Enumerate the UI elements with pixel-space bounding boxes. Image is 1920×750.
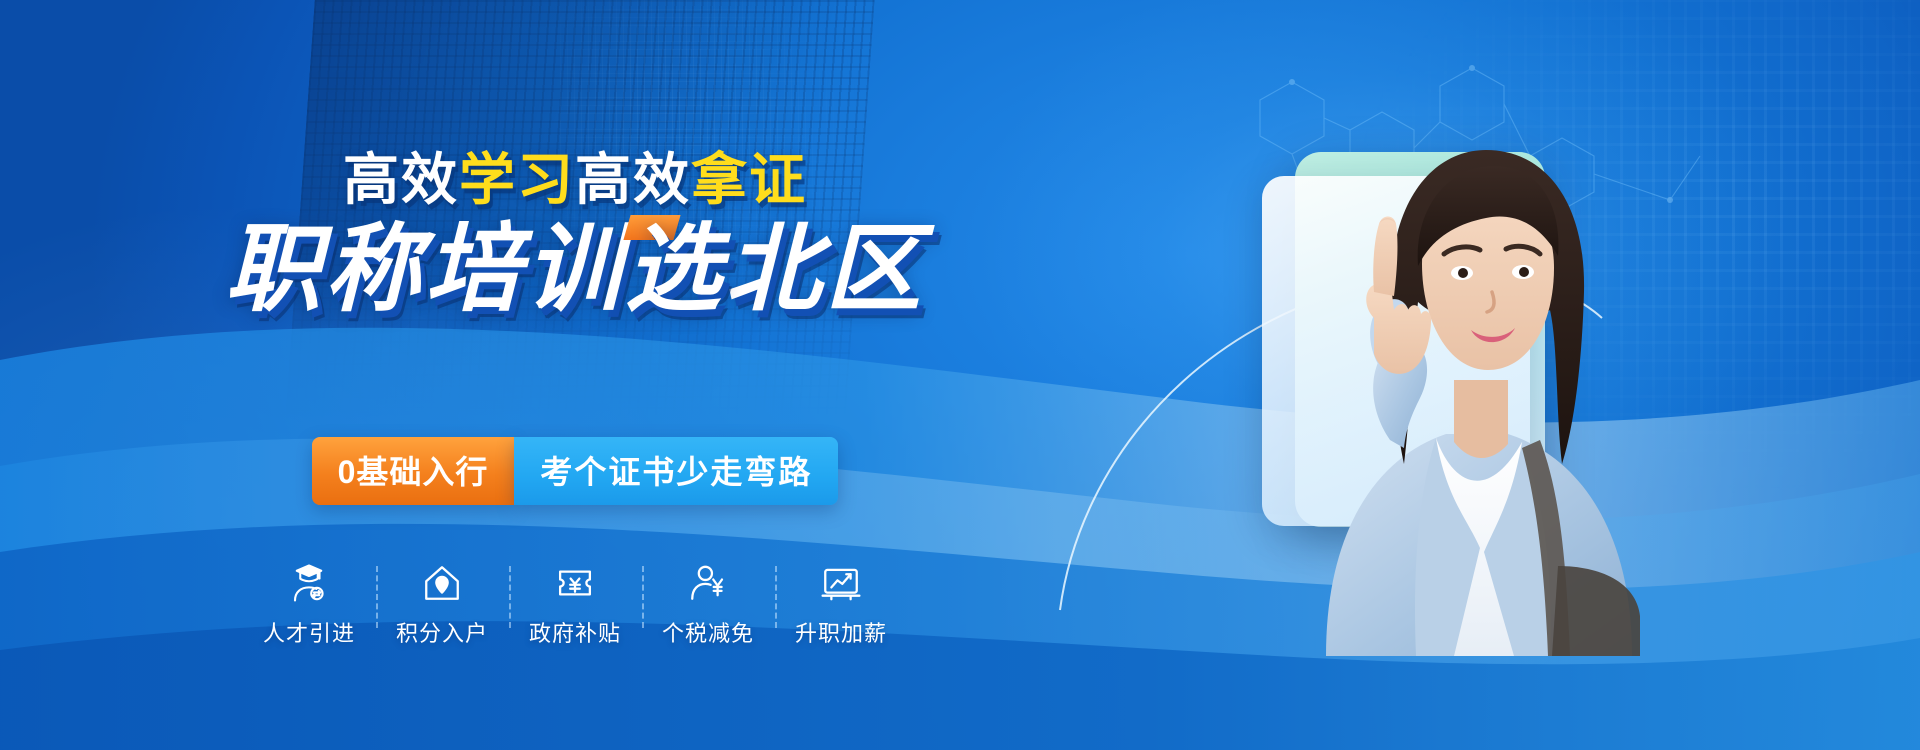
ticket-yuan-icon	[552, 560, 598, 606]
kicker-seg-3: 高效	[575, 148, 691, 211]
subbar-text: 考个证书少走弯路	[514, 437, 838, 505]
headline-tail: 北区	[725, 216, 925, 323]
feature-label: 积分入户	[396, 616, 488, 648]
subbar: 0基础入行 考个证书少走弯路	[0, 437, 1150, 505]
kicker-seg-1: 高效	[343, 148, 459, 211]
promo-banner: 高效学习高效拿证 职称培训选北区 0基础入行 考个证书少走弯路	[0, 0, 1920, 750]
feature-item-promotion[interactable]: 升职加薪	[775, 560, 908, 648]
zero-basis-badge: 0基础入行	[312, 437, 515, 505]
presenter-photo	[1240, 96, 1670, 656]
feature-row: 人才引进 积分入户	[0, 560, 1150, 648]
kicker-seg-4: 拿证	[691, 148, 807, 211]
feature-label: 政府补贴	[529, 616, 621, 648]
headline-accent: 选	[625, 216, 725, 323]
kicker-seg-2: 学习	[459, 148, 575, 211]
kicker-line: 高效学习高效拿证	[0, 152, 1150, 208]
feature-item-hukou[interactable]: 积分入户	[376, 560, 509, 648]
feature-label: 人才引进	[263, 616, 355, 648]
headline: 职称培训选北区	[0, 222, 1150, 318]
feature-label: 个税减免	[662, 616, 754, 648]
graduate-person-icon	[286, 560, 332, 606]
chart-growth-icon	[818, 560, 864, 606]
feature-item-subsidy[interactable]: 政府补贴	[509, 560, 642, 648]
headline-lead: 职称培训	[225, 216, 625, 323]
feature-label: 升职加薪	[795, 616, 887, 648]
person-yuan-icon	[685, 560, 731, 606]
feature-item-talent[interactable]: 人才引进	[243, 560, 376, 648]
feature-item-tax[interactable]: 个税减免	[642, 560, 775, 648]
copy-block: 高效学习高效拿证 职称培训选北区 0基础入行 考个证书少走弯路	[0, 0, 1150, 750]
headline-accent-highlight: 选	[625, 222, 725, 318]
house-pin-icon	[419, 560, 465, 606]
